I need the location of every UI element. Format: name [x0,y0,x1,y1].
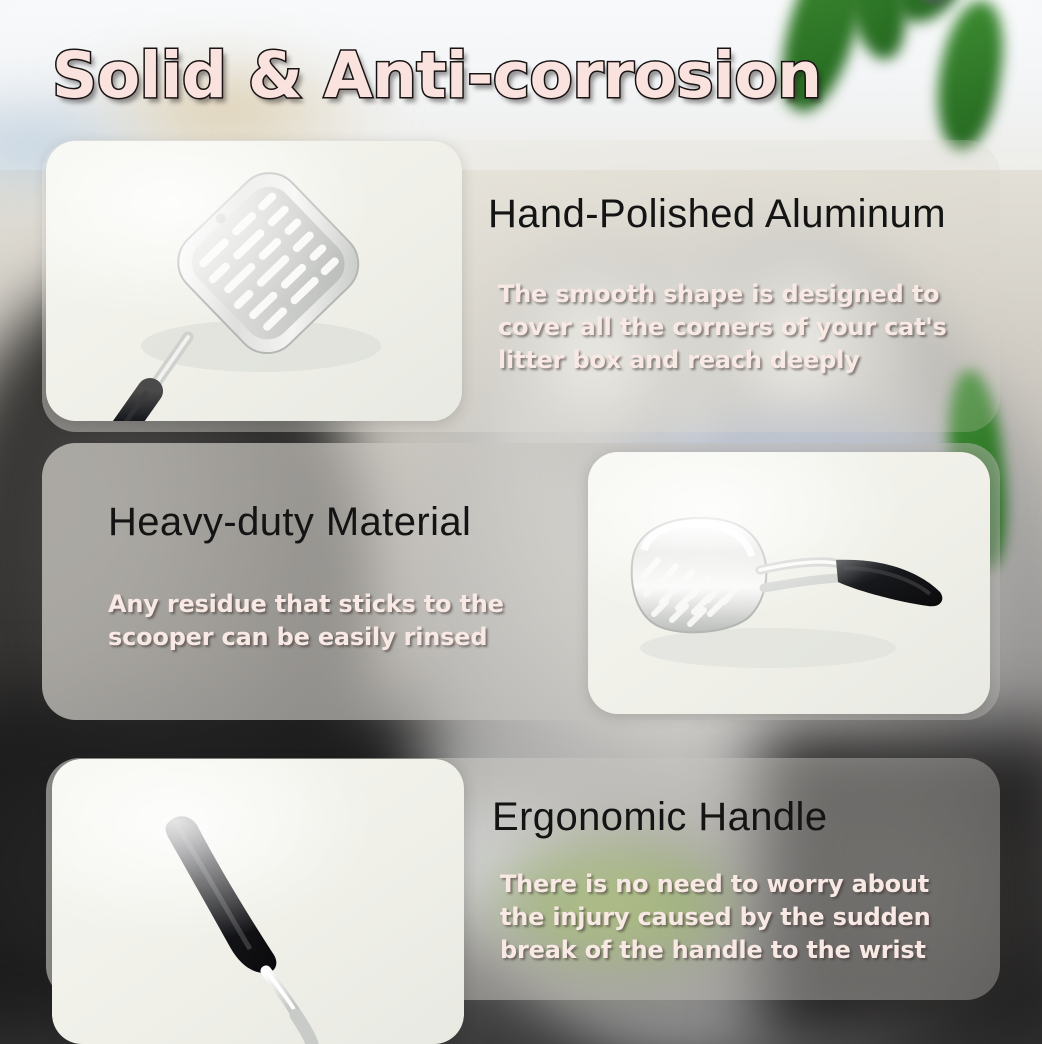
section-3-heading: Ergonomic Handle [492,795,827,840]
product-photo-card-3 [52,759,464,1044]
section-2-heading: Heavy-duty Material [108,500,471,545]
section-3-body: There is no need to worry about the inju… [500,868,970,967]
section-1-heading: Hand-Polished Aluminum [488,192,946,237]
section-2-body: Any residue that sticks to the scooper c… [108,588,578,654]
product-photo-card-2 [588,452,990,714]
product-photo-card-1 [46,141,462,421]
infographic-root: Solid & Anti-corrosion [0,0,1042,1044]
section-1-body: The smooth shape is designed to cover al… [498,278,978,377]
page-title: Solid & Anti-corrosion [52,44,822,107]
